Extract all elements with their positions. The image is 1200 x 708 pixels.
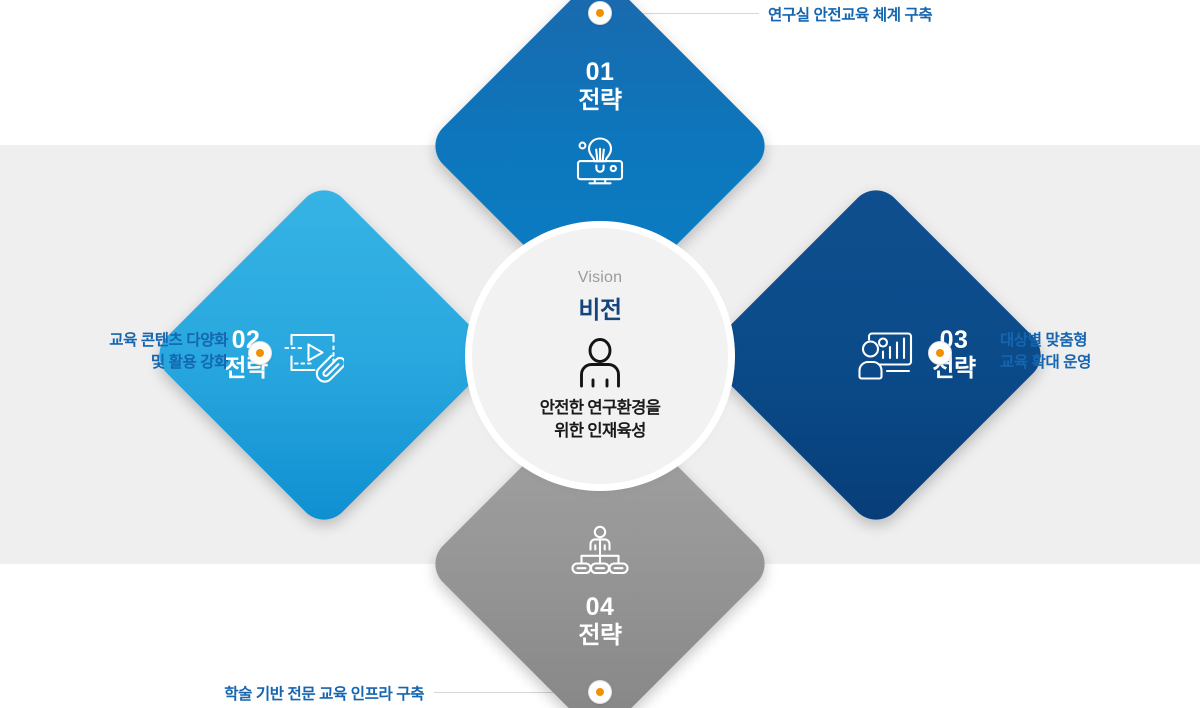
person-barchart-icon: [856, 327, 918, 383]
callout-strategy-02-line2: 및 활용 강화: [0, 352, 228, 374]
video-attachment-icon: [282, 326, 344, 384]
org-chart-icon: [571, 525, 629, 577]
strategy-01-label-block: 01 전략: [578, 58, 621, 116]
vision-en-title: Vision: [578, 269, 623, 287]
strategy-04-label: 전략: [578, 622, 621, 651]
callout-strategy-04-line1: 학술 기반 전문 교육 인프라 구축: [0, 684, 424, 706]
callout-strategy-04[interactable]: 학술 기반 전문 교육 인프라 구축: [0, 684, 424, 706]
connector-dot-strategy-01[interactable]: [589, 2, 611, 24]
connector-dot-strategy-03[interactable]: [929, 342, 951, 364]
monitor-lightbulb-icon: [570, 132, 630, 188]
strategy-01-number: 01: [586, 58, 615, 87]
connector-dot-strategy-04[interactable]: [589, 681, 611, 703]
callout-strategy-01-line1: 연구실 안전교육 체계 구축: [768, 5, 932, 27]
vision-ko-title: 비전: [578, 290, 621, 325]
strategy-04-label-block: 04 전략: [578, 593, 621, 651]
vision-description-line1: 안전한 연구환경을: [540, 397, 661, 420]
connector-dot-strategy-02[interactable]: [249, 342, 271, 364]
callout-strategy-03[interactable]: 대상별 맞춤형 교육 확대 운영: [1000, 330, 1091, 375]
callout-strategy-02-line1: 교육 콘텐츠 다양화: [0, 330, 228, 352]
callout-strategy-03-line2: 교육 확대 운영: [1000, 352, 1091, 374]
strategy-04-number: 04: [586, 593, 615, 622]
strategy-01-label: 전략: [578, 87, 621, 116]
callout-strategy-01[interactable]: 연구실 안전교육 체계 구축: [768, 5, 932, 27]
vision-description: 안전한 연구환경을 위한 인재육성: [540, 397, 661, 443]
person-icon: [574, 337, 626, 389]
vision-circle[interactable]: Vision 비전 안전한 연구환경을 위한 인재육성: [472, 228, 728, 484]
callout-strategy-02[interactable]: 교육 콘텐츠 다양화 및 활용 강화: [0, 330, 228, 375]
vision-strategy-diagram: 연구실 안전교육 체계 구축 교육 콘텐츠 다양화 및 활용 강화 대상별 맞춤…: [0, 0, 1200, 708]
strategy-card-03[interactable]: 03 전략: [701, 180, 1052, 531]
vision-description-line2: 위한 인재육성: [540, 420, 661, 443]
callout-strategy-03-line1: 대상별 맞춤형: [1000, 330, 1091, 352]
